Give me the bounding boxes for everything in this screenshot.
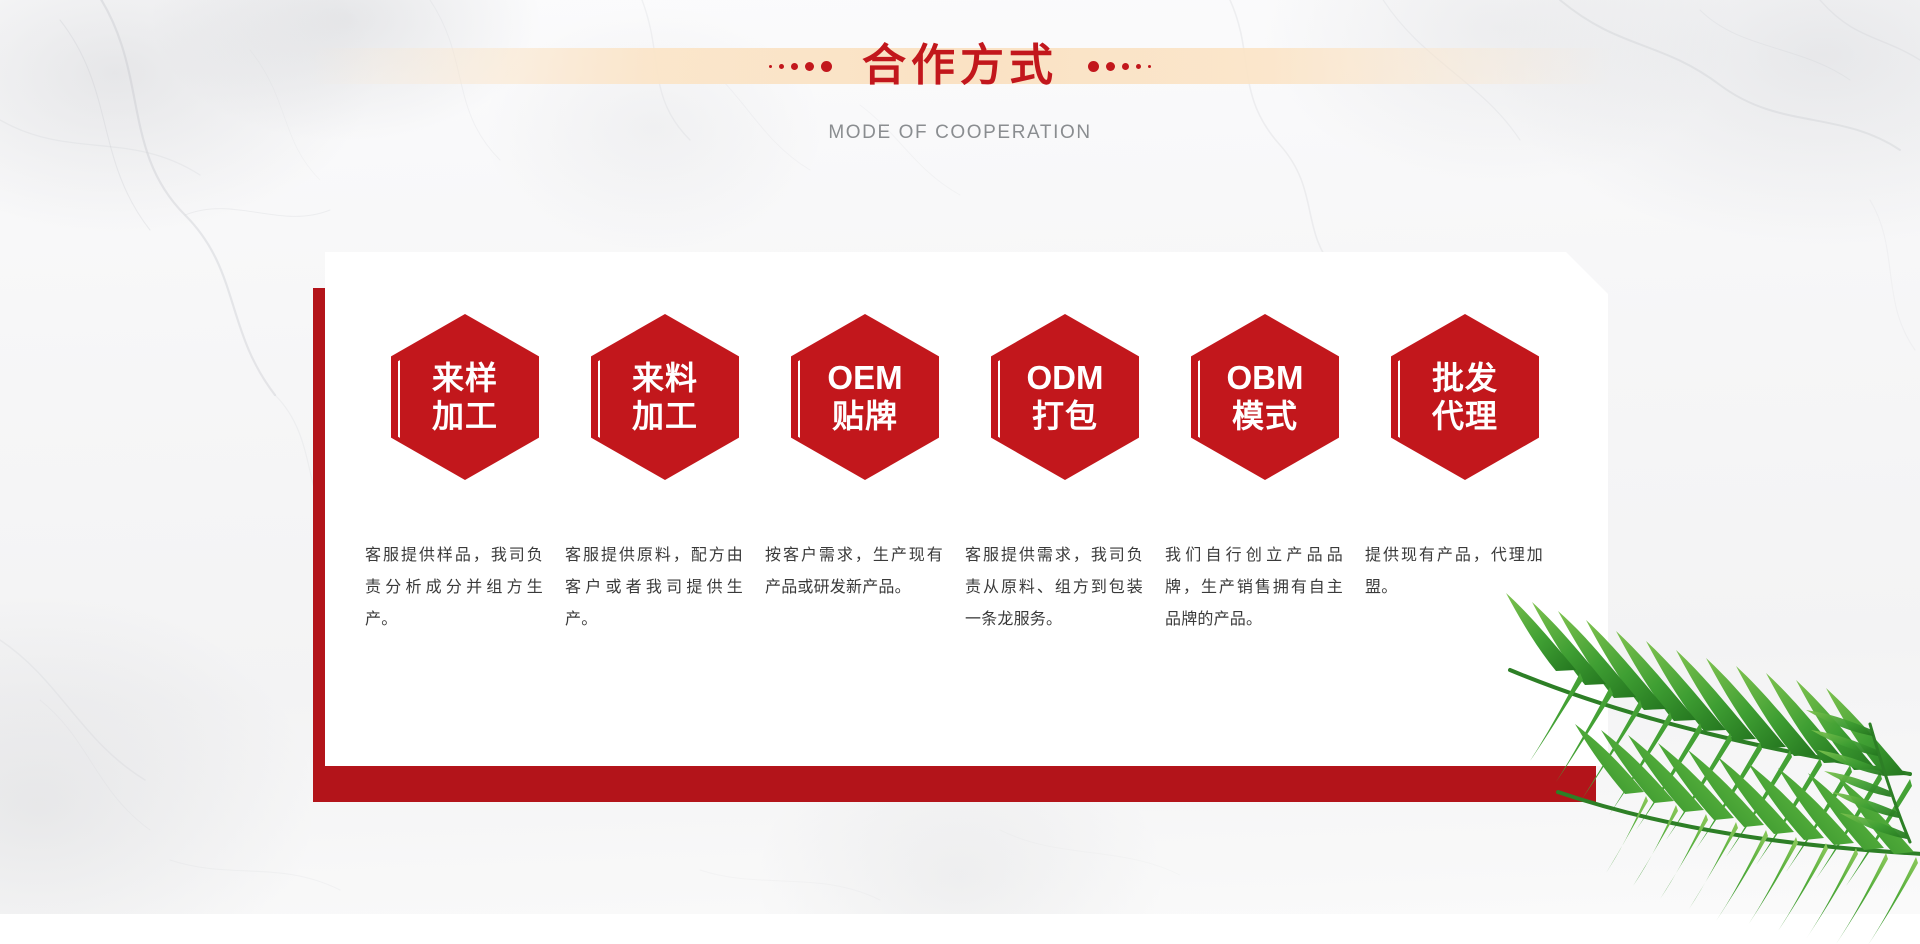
hexagon-badge-icon: 来样加工 [391,314,539,480]
badge-2[interactable]: 来料加工 [565,314,765,480]
badge-label-line2: 贴牌 [832,399,898,434]
badge-label-line1: 来样 [432,361,498,396]
badge-description-4: 客服提供需求，我司负责从原料、组方到包装一条龙服务。 [965,540,1165,636]
badge-label-line2: 代理 [1432,399,1498,434]
badge-label-line1: ODM [1027,360,1104,396]
badge-label-line2: 加工 [432,399,498,434]
badge-description-5: 我们自行创立产品品牌，生产销售拥有自主品牌的产品。 [1165,540,1365,636]
description-row: 客服提供样品，我司负责分析成分并组方生产。客服提供原料，配方由客户或者我司提供生… [365,540,1565,636]
badge-1[interactable]: 来样加工 [365,314,565,480]
hexagon-badge-icon: 批发代理 [1391,314,1539,480]
badge-description-1: 客服提供样品，我司负责分析成分并组方生产。 [365,540,565,636]
badge-label-line1: 来料 [632,361,698,396]
badge-description-6: 提供现有产品，代理加盟。 [1365,540,1565,636]
badge-label: 来样加工 [391,314,539,480]
badge-label: 批发代理 [1391,314,1539,480]
hexagon-badge-icon: ODM打包 [991,314,1139,480]
badge-row: 来样加工来料加工OEM贴牌ODM打包OBM模式批发代理 [365,314,1565,480]
badge-label: OBM模式 [1191,314,1339,480]
badge-label-line1: 批发 [1432,361,1498,396]
hexagon-badge-icon: 来料加工 [591,314,739,480]
dot-cluster-descending-icon [1088,61,1151,72]
card-panel: 来样加工来料加工OEM贴牌ODM打包OBM模式批发代理 客服提供样品，我司负责分… [325,252,1608,766]
hexagon-badge-icon: OBM模式 [1191,314,1339,480]
badge-label: 来料加工 [591,314,739,480]
badge-label: OEM贴牌 [791,314,939,480]
badge-label: ODM打包 [991,314,1139,480]
badge-label-line2: 打包 [1032,399,1098,434]
badge-5[interactable]: OBM模式 [1165,314,1365,480]
page-title: 合作方式 [862,44,1058,88]
badge-3[interactable]: OEM贴牌 [765,314,965,480]
dot-cluster-ascending-icon [769,61,832,72]
badge-6[interactable]: 批发代理 [1365,314,1565,480]
badge-description-2: 客服提供原料，配方由客户或者我司提供生产。 [565,540,765,636]
badge-label-line2: 加工 [632,399,698,434]
hexagon-badge-icon: OEM贴牌 [791,314,939,480]
badge-4[interactable]: ODM打包 [965,314,1165,480]
badge-label-line1: OEM [827,360,902,396]
page-header: 合作方式 [0,30,1920,102]
cooperation-card: 来样加工来料加工OEM贴牌ODM打包OBM模式批发代理 客服提供样品，我司负责分… [313,252,1608,802]
badge-label-line2: 模式 [1232,399,1298,434]
badge-description-3: 按客户需求，生产现有产品或研发新产品。 [765,540,965,636]
page-subtitle: MODE OF COOPERATION [0,122,1920,144]
badge-label-line1: OBM [1227,360,1304,396]
